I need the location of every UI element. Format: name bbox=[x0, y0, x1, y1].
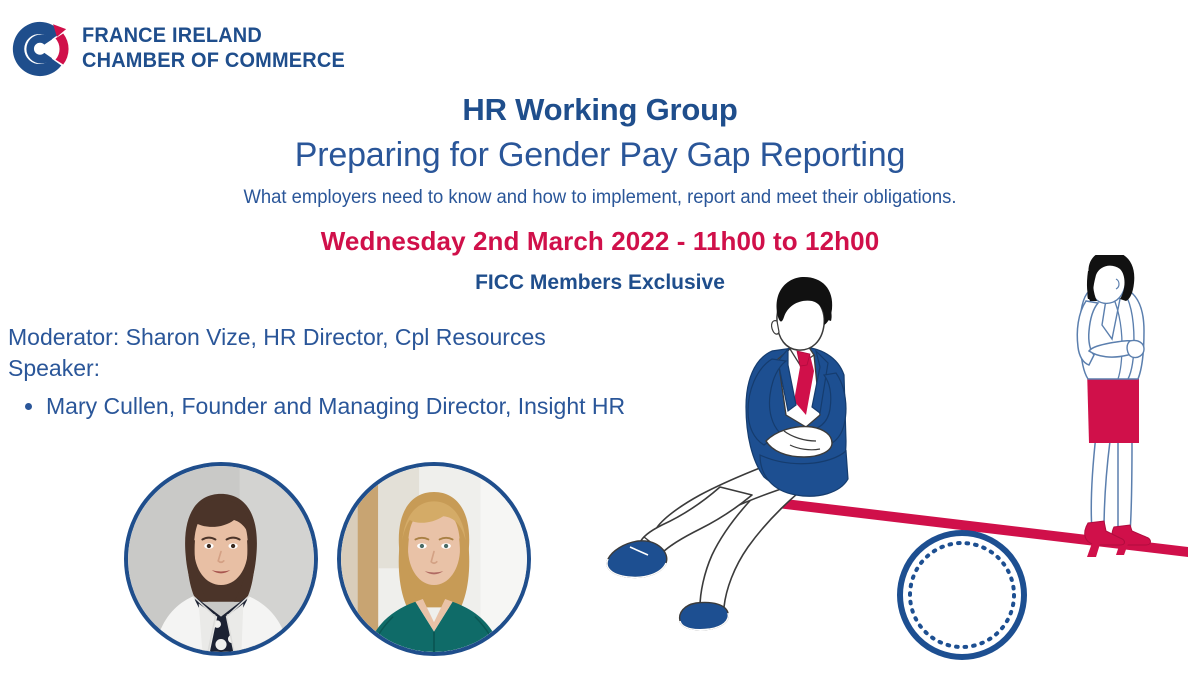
ficc-logo-line-1: FRANCE IRELAND bbox=[82, 24, 345, 49]
event-description: What employers need to know and how to i… bbox=[18, 187, 1182, 210]
page-title-working-group: HR Working Group bbox=[0, 92, 1200, 128]
seesaw-fulcrum-circle bbox=[900, 533, 1024, 657]
slide-canvas: FRANCE IRELAND CHAMBER OF COMMERCE HR Wo… bbox=[0, 0, 1200, 675]
ficc-logo-wordmark: FRANCE IRELAND CHAMBER OF COMMERCE bbox=[82, 24, 345, 74]
event-datetime: Wednesday 2nd March 2022 - 11h00 to 12h0… bbox=[0, 227, 1200, 256]
standing-woman-figure bbox=[1077, 255, 1150, 557]
ficc-logo: FRANCE IRELAND CHAMBER OF COMMERCE bbox=[8, 18, 359, 80]
cci-monogram-icon bbox=[8, 18, 70, 80]
ficc-logo-line-2: CHAMBER OF COMMERCE bbox=[82, 49, 345, 74]
seated-man-figure bbox=[607, 277, 848, 630]
portrait-mary-cullen bbox=[337, 462, 531, 656]
page-subtitle-topic: Preparing for Gender Pay Gap Reporting bbox=[0, 137, 1200, 174]
portrait-sharon-vize bbox=[124, 462, 318, 656]
gender-pay-gap-seesaw-illustration bbox=[600, 255, 1200, 675]
